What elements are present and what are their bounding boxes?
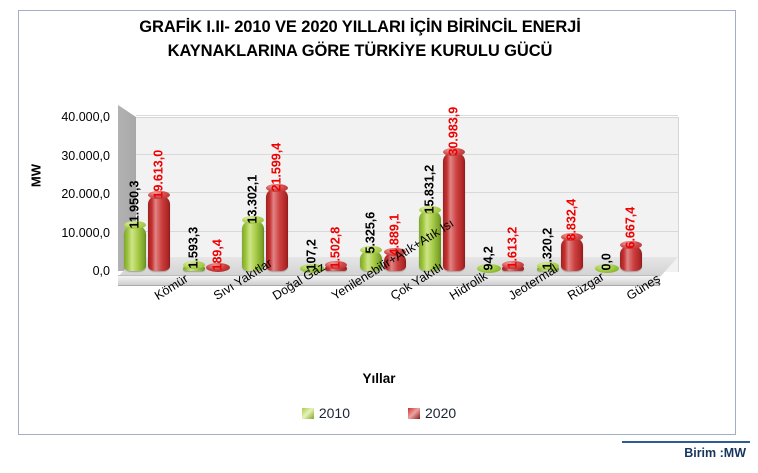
y-axis-tick-label: 30.000,0 [26,150,110,163]
legend-swatch-green-icon [302,408,314,419]
data-label-2010-Kömür: 11.950,3 [129,181,142,229]
data-label-2020-Güneş: 6.667,4 [625,207,638,249]
data-label-2020-Jeotermal: 1.613,2 [507,227,520,269]
data-label-2010-Jeotermal: 94,2 [483,246,496,270]
data-label-2020-Kömür: 19.613,0 [153,150,166,199]
bar-2020-Hidrolik [443,152,465,271]
data-label-2010-Doğal Gaz: 13.302,1 [247,175,260,224]
chart-legend: 2010 2020 [0,405,758,421]
data-label-2020-Doğal Gaz: 21.599,4 [271,143,284,192]
data-label-2020-Yenilenebilir+Atık+Atık Isı: 1.502,8 [330,227,343,269]
bar-2020-Rüzgar [561,237,583,271]
x-axis-category-labels: KömürSıvı YakıtlarDoğal GazYenilenebilir… [118,287,718,377]
bar-2020-Güneş [620,245,642,271]
y-axis-tick-label: 40.000,0 [26,111,110,124]
y-axis-tick-label: 0,0 [26,265,110,278]
y-axis-tick-label: 10.000,0 [26,227,110,240]
legend-swatch-red-icon [408,408,420,419]
bar-2010-Kömür [124,225,146,271]
legend-item-2020: 2020 [408,405,456,421]
data-label-2020-Sıvı Yakıtlar: 189,4 [212,239,225,270]
y-axis-tick-labels: 0,010.000,020.000,030.000,040.000,0 [26,0,110,473]
legend-label-2010: 2010 [319,405,350,421]
x-axis-title: Yıllar [0,371,758,386]
data-label-2010-Sıvı Yakıtlar: 1.593,3 [188,227,201,269]
data-label-2010-Güneş: 0,0 [601,253,614,270]
chart-title: GRAFİK I.II- 2010 VE 2020 YILLARI İÇİN B… [60,16,660,64]
chart-title-line-1: GRAFİK I.II- 2010 VE 2020 YILLARI İÇİN B… [60,16,660,40]
footer-unit-note: Birim :MW [684,446,746,460]
legend-label-2020: 2020 [425,405,456,421]
data-label-2010-Hidrolik: 15.831,2 [424,165,437,214]
data-label-2020-Hidrolik: 30.983,9 [448,107,461,156]
bar-2020-Kömür [148,195,170,271]
data-label-2020-Rüzgar: 8.832,4 [566,199,579,241]
legend-item-2010: 2010 [302,405,350,421]
data-label-2010-Çok Yakıtlı: 5.325,6 [365,212,378,254]
chart-title-line-2: KAYNAKLARINA GÖRE TÜRKİYE KURULU GÜCÜ [60,40,660,64]
footer-divider [622,441,750,443]
y-axis-tick-label: 20.000,0 [26,188,110,201]
